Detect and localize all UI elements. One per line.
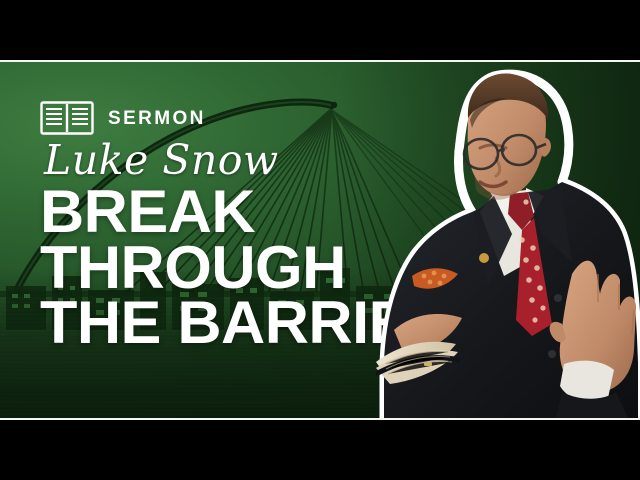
kicker-label: SERMON (108, 109, 206, 128)
finger-ring (424, 362, 432, 366)
open-book-icon (40, 100, 94, 136)
jacket-button (548, 350, 556, 358)
thumbnail-artwork: SERMON Luke Snow BREAK THROUGH THE BARRI… (0, 62, 640, 418)
letterbox-bar-bottom (0, 420, 640, 480)
letterbox-bar-top (0, 0, 640, 60)
artwork-top-edge (0, 60, 640, 62)
thumbnail-canvas: SERMON Luke Snow BREAK THROUGH THE BARRI… (0, 0, 640, 480)
speaker-cutout-image (376, 62, 640, 418)
jacket-button (554, 294, 562, 302)
lapel-pin (479, 253, 489, 263)
